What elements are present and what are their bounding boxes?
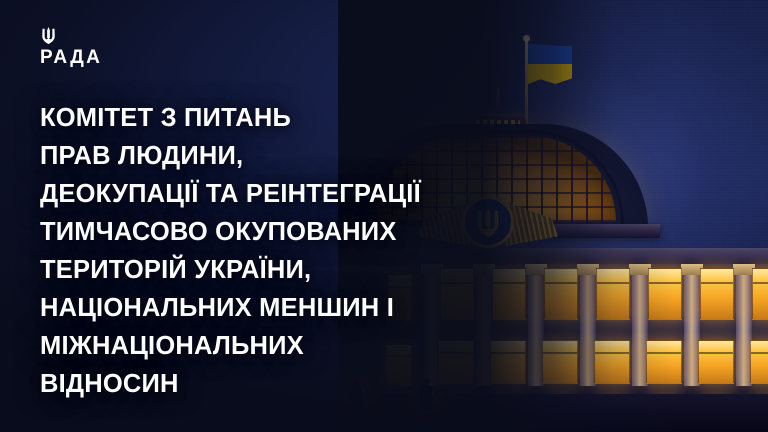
facade-window — [752, 268, 768, 320]
rada-logo[interactable]: РАДА — [40, 26, 102, 67]
facade-window — [750, 340, 768, 384]
rada-logo-text: РАДА — [40, 48, 102, 67]
headline-line: НАЦІОНАЛЬНИХ МЕНШИН І — [40, 289, 740, 327]
headline-line: ПРАВ ЛЮДИНИ, — [40, 137, 740, 175]
headline-line: ДЕОКУПАЦІЇ ТА РЕІНТЕГРАЦІЇ — [40, 175, 740, 213]
headline-line: КОМІТЕТ З ПИТАНЬ — [40, 99, 740, 137]
headline-line: ТЕРИТОРІЙ УКРАЇНИ, — [40, 251, 740, 289]
ukrainian-trident-icon — [40, 26, 57, 45]
page-title: КОМІТЕТ З ПИТАНЬ ПРАВ ЛЮДИНИ, ДЕОКУПАЦІЇ… — [40, 99, 740, 403]
headline-line: МІЖНАЦІОНАЛЬНИХ — [40, 327, 740, 365]
flag-finial — [523, 35, 530, 42]
committee-banner: РАДА КОМІТЕТ З ПИТАНЬ ПРАВ ЛЮДИНИ, ДЕОКУ… — [0, 0, 768, 432]
headline-line: ВІДНОСИН — [40, 365, 740, 403]
flag-cloth — [528, 44, 572, 84]
headline-line: ТИМЧАСОВО ОКУПОВАНИХ — [40, 213, 740, 251]
